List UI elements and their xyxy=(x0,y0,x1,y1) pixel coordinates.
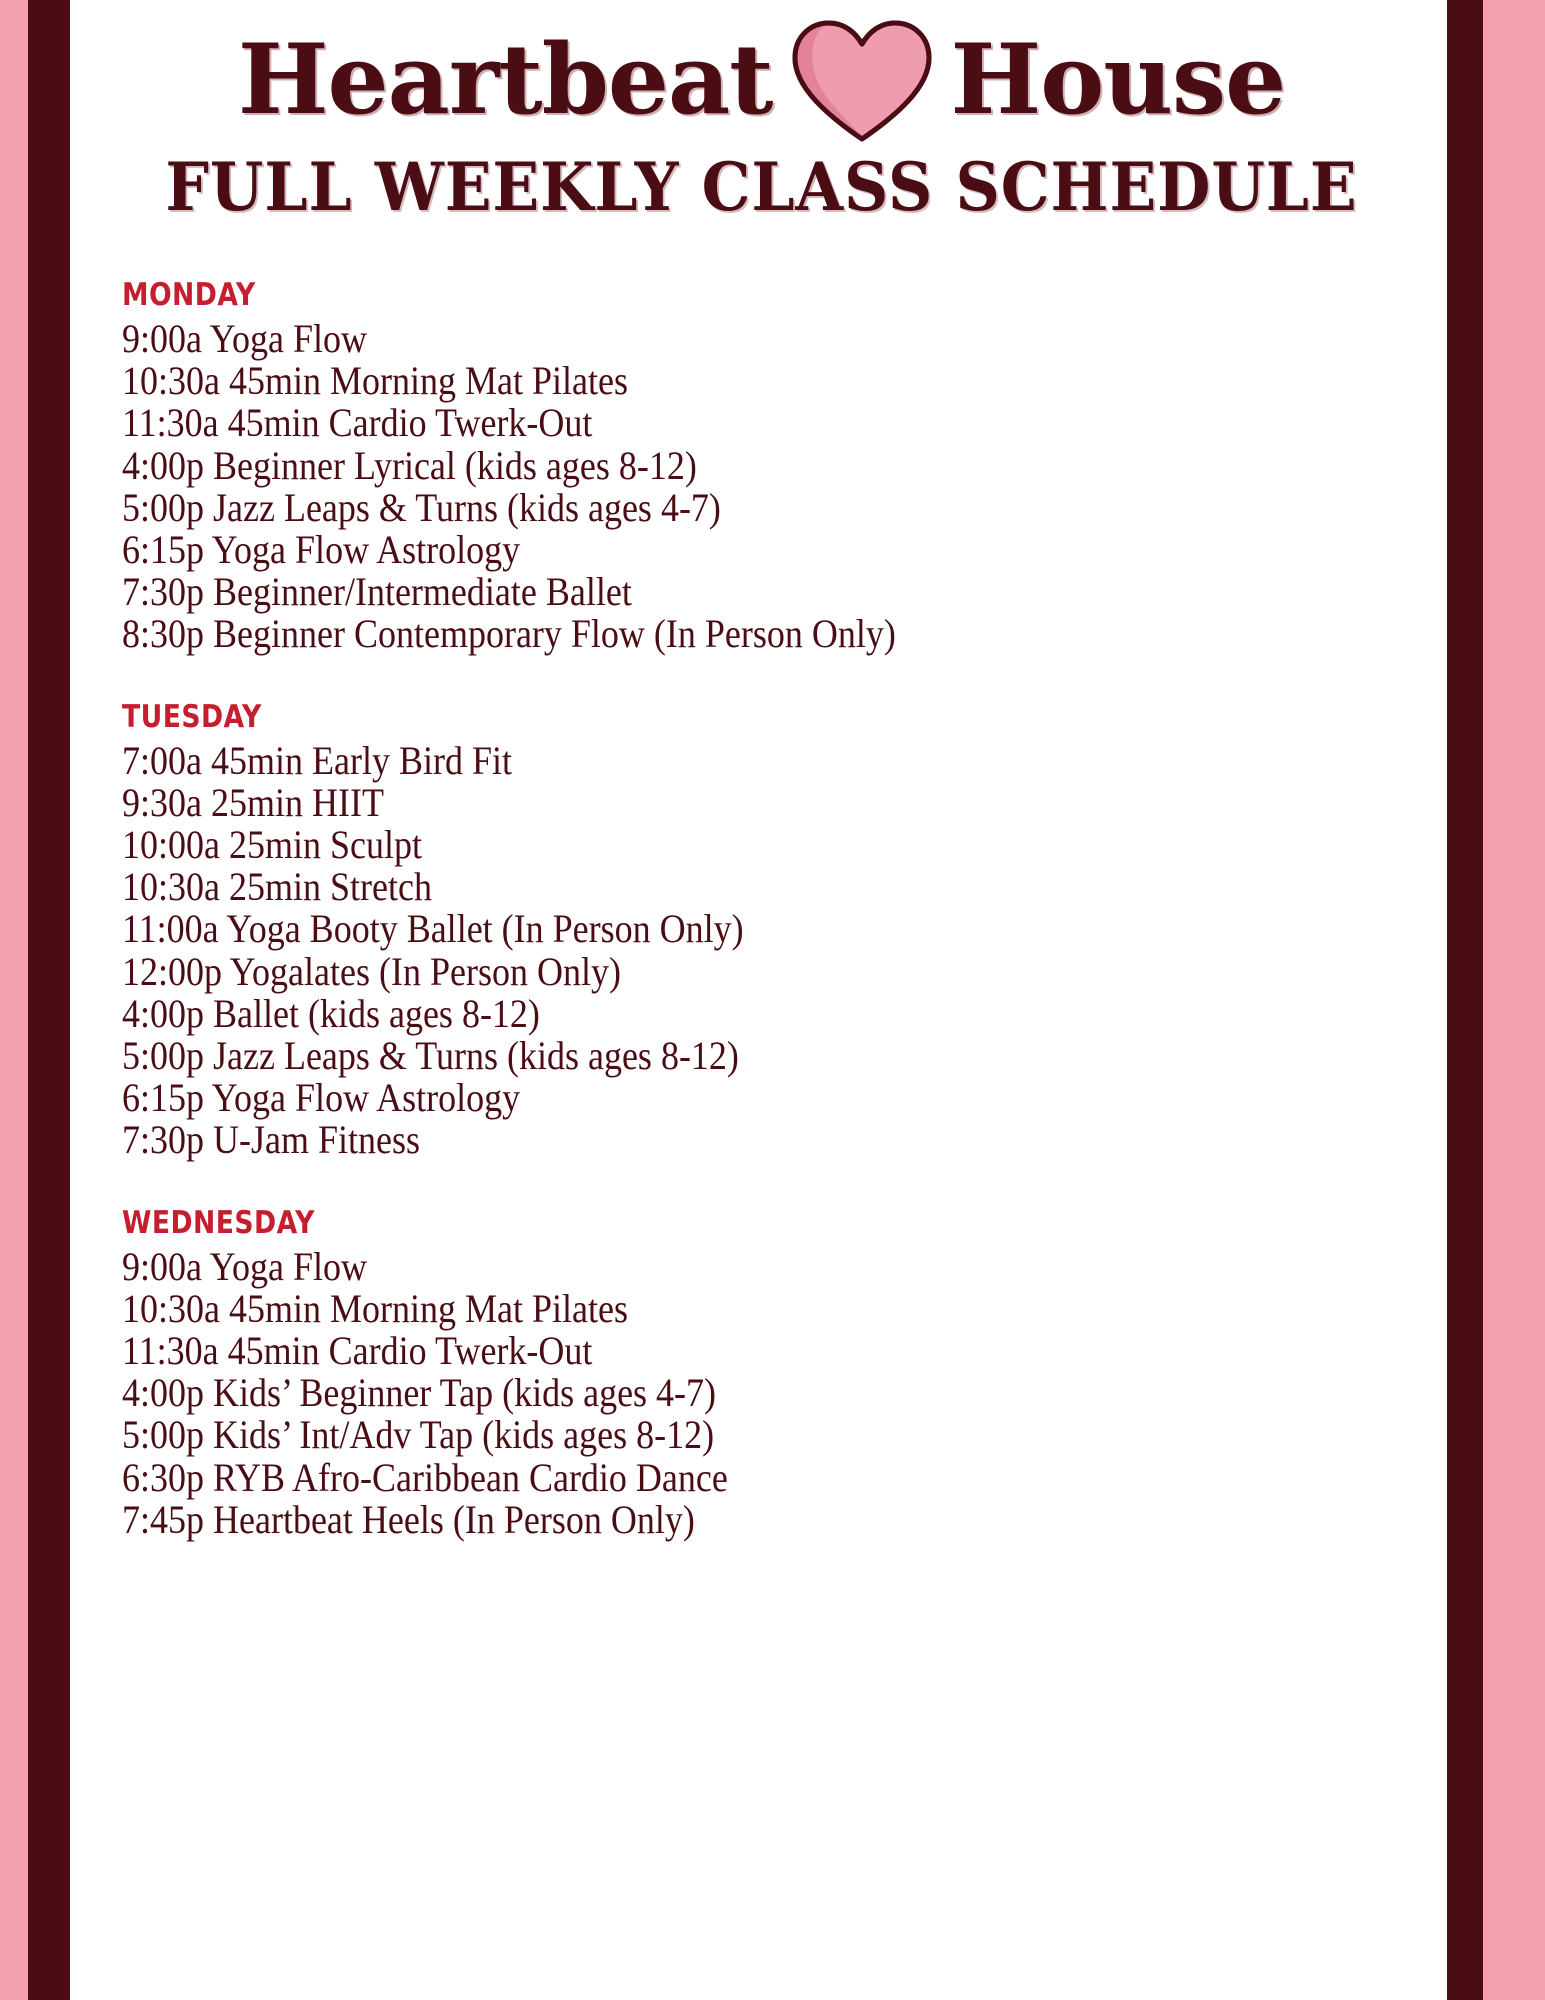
class-item: 7:00a 45min Early Bird Fit xyxy=(122,740,1302,782)
class-item: 12:00p Yogalates (In Person Only) xyxy=(122,951,1302,993)
poster-content: Heartbeat House FULL WEEKLY CLASS SCHEDU… xyxy=(70,0,1453,2000)
class-item: 4:00p Beginner Lyrical (kids ages 8-12) xyxy=(122,445,1302,487)
brand-word-heartbeat: Heartbeat xyxy=(238,32,773,128)
class-item: 7:45p Heartbeat Heels (In Person Only) xyxy=(122,1499,1302,1541)
class-item: 5:00p Kids’ Int/Adv Tap (kids ages 8-12) xyxy=(122,1414,1302,1456)
border-stripe-pink-right xyxy=(1483,0,1545,2000)
class-item: 9:00a Yoga Flow xyxy=(122,318,1302,360)
class-item: 6:15p Yoga Flow Astrology xyxy=(122,529,1302,571)
border-stripe-pink-left xyxy=(0,0,28,2000)
class-item: 9:30a 25min HIIT xyxy=(122,782,1302,824)
day-header-monday: MONDAY xyxy=(122,278,1249,312)
day-block-wednesday: WEDNESDAY 9:00a Yoga Flow 10:30a 45min M… xyxy=(122,1206,1433,1541)
class-item: 10:30a 25min Stretch xyxy=(122,866,1302,908)
class-list-wednesday: 9:00a Yoga Flow 10:30a 45min Morning Mat… xyxy=(122,1246,1433,1541)
page-title: FULL WEEKLY CLASS SCHEDULE xyxy=(118,154,1404,220)
class-item: 10:30a 45min Morning Mat Pilates xyxy=(122,1288,1302,1330)
day-header-tuesday: TUESDAY xyxy=(122,700,1249,734)
day-block-tuesday: TUESDAY 7:00a 45min Early Bird Fit 9:30a… xyxy=(122,700,1433,1162)
class-item: 7:30p Beginner/Intermediate Ballet xyxy=(122,571,1302,613)
class-item: 11:00a Yoga Booty Ballet (In Person Only… xyxy=(122,908,1302,950)
class-item: 4:00p Kids’ Beginner Tap (kids ages 4-7) xyxy=(122,1372,1302,1414)
class-list-monday: 9:00a Yoga Flow 10:30a 45min Morning Mat… xyxy=(122,318,1433,656)
class-item: 5:00p Jazz Leaps & Turns (kids ages 8-12… xyxy=(122,1035,1302,1077)
weekly-schedule: MONDAY 9:00a Yoga Flow 10:30a 45min Morn… xyxy=(70,278,1453,1541)
class-item: 11:30a 45min Cardio Twerk-Out xyxy=(122,1330,1302,1372)
heart-icon xyxy=(787,17,937,143)
class-item: 10:30a 45min Morning Mat Pilates xyxy=(122,360,1302,402)
class-item: 6:15p Yoga Flow Astrology xyxy=(122,1077,1302,1119)
class-item: 10:00a 25min Sculpt xyxy=(122,824,1302,866)
class-item: 9:00a Yoga Flow xyxy=(122,1246,1302,1288)
class-item: 6:30p RYB Afro-Caribbean Cardio Dance xyxy=(122,1457,1302,1499)
class-item: 5:00p Jazz Leaps & Turns (kids ages 4-7) xyxy=(122,487,1302,529)
brand-word-house: House xyxy=(951,32,1286,128)
class-item: 11:30a 45min Cardio Twerk-Out xyxy=(122,402,1302,444)
brand-masthead: Heartbeat House xyxy=(70,0,1453,130)
border-stripe-dark-left xyxy=(28,0,70,2000)
schedule-poster: Heartbeat House FULL WEEKLY CLASS SCHEDU… xyxy=(0,0,1545,2000)
day-block-monday: MONDAY 9:00a Yoga Flow 10:30a 45min Morn… xyxy=(122,278,1433,656)
day-header-wednesday: WEDNESDAY xyxy=(122,1206,1249,1240)
class-item: 8:30p Beginner Contemporary Flow (In Per… xyxy=(122,613,1302,655)
class-item: 4:00p Ballet (kids ages 8-12) xyxy=(122,993,1302,1035)
class-item: 7:30p U-Jam Fitness xyxy=(122,1119,1302,1161)
class-list-tuesday: 7:00a 45min Early Bird Fit 9:30a 25min H… xyxy=(122,740,1433,1162)
